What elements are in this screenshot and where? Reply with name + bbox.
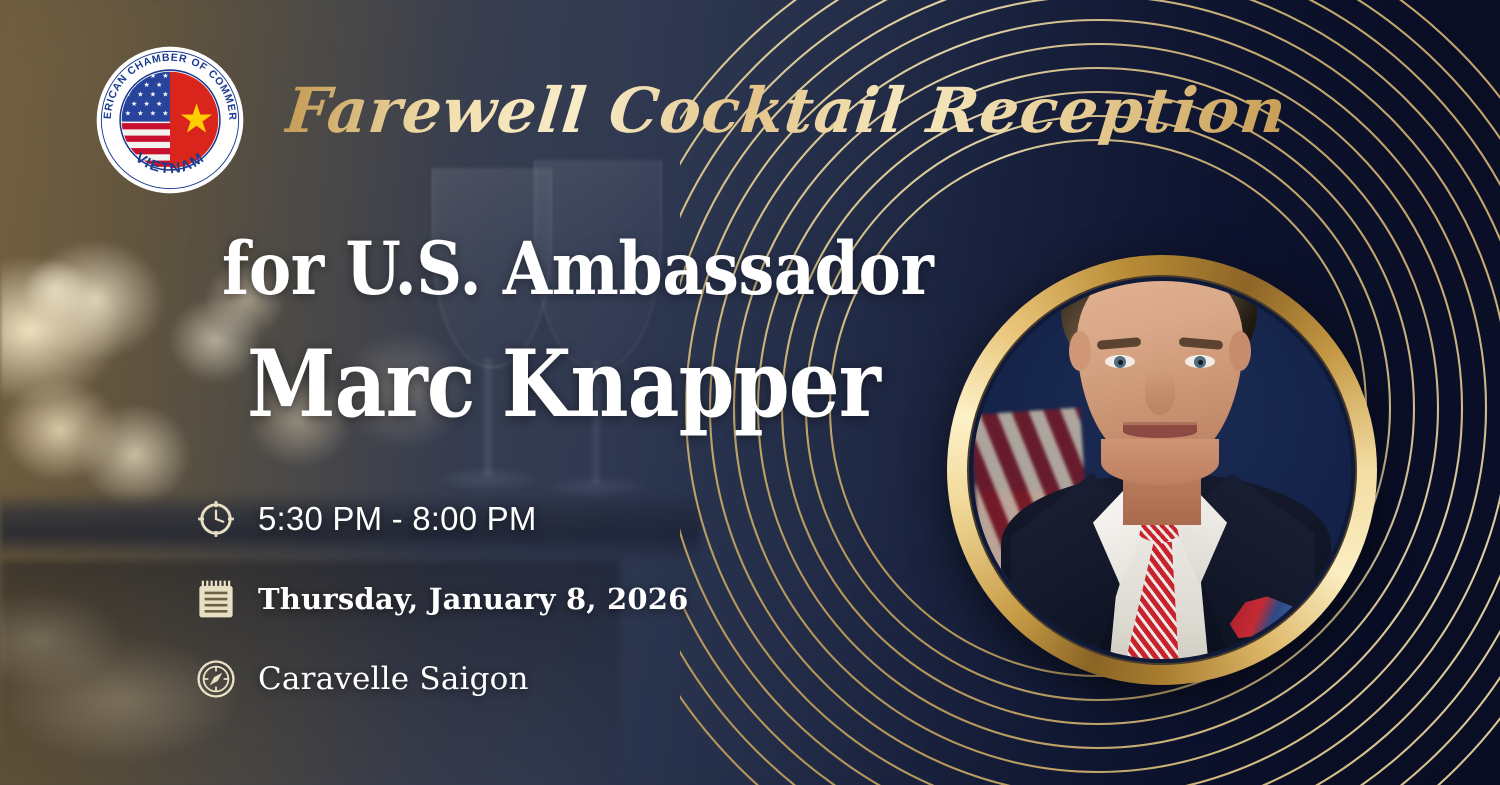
portrait-nose: [1145, 369, 1175, 415]
portrait-ear-left: [1069, 331, 1091, 371]
svg-text:★: ★: [143, 100, 149, 108]
detail-text-venue: Caravelle Saigon: [258, 661, 529, 697]
svg-text:★: ★: [150, 91, 156, 99]
svg-text:★: ★: [178, 95, 214, 141]
svg-text:★: ★: [156, 81, 162, 89]
calendar-icon: [192, 575, 240, 623]
portrait-photo: [973, 281, 1351, 659]
portrait-photo-clip: [973, 281, 1351, 659]
svg-text:★: ★: [137, 109, 143, 117]
portrait-head: [973, 281, 1351, 659]
svg-text:★: ★: [156, 100, 162, 108]
detail-row-date: Thursday, January 8, 2026: [192, 570, 688, 628]
svg-text:★: ★: [162, 109, 168, 117]
marc-knapper-portrait: [947, 255, 1377, 685]
compass-icon: [192, 655, 240, 703]
svg-text:★: ★: [131, 100, 137, 108]
portrait-pupil-right: [1198, 360, 1203, 365]
headline-line-2: Marc Knapper: [247, 337, 880, 430]
svg-text:★: ★: [125, 109, 131, 117]
detail-row-venue: Caravelle Saigon: [192, 650, 688, 708]
portrait-ear-right: [1229, 331, 1251, 371]
event-details-list: 5:30 PM - 8:00 PM: [192, 490, 688, 708]
detail-text-time: 5:30 PM - 8:00 PM: [258, 500, 537, 538]
portrait-pupil-left: [1118, 360, 1123, 365]
svg-text:★: ★: [162, 91, 168, 99]
event-banner: ★★★★ ★★★ ★★★★ ★★★ ★★★★ ★ AMERICAN CHAMBE…: [0, 0, 1500, 785]
svg-text:★: ★: [137, 91, 143, 99]
svg-text:★: ★: [143, 81, 149, 89]
headline-line-1: for U.S. Ambassador: [222, 233, 933, 306]
detail-text-date: Thursday, January 8, 2026: [258, 582, 688, 616]
svg-text:★: ★: [162, 72, 168, 80]
script-title: Farewell Cocktail Reception: [282, 74, 1290, 147]
amcham-vietnam-logo: ★★★★ ★★★ ★★★★ ★★★ ★★★★ ★ AMERICAN CHAMBE…: [92, 42, 248, 198]
portrait-chin: [1101, 439, 1219, 485]
portrait-mouth: [1123, 425, 1197, 438]
detail-row-time: 5:30 PM - 8:00 PM: [192, 490, 688, 548]
clock-icon: [192, 495, 240, 543]
svg-text:★: ★: [150, 109, 156, 117]
